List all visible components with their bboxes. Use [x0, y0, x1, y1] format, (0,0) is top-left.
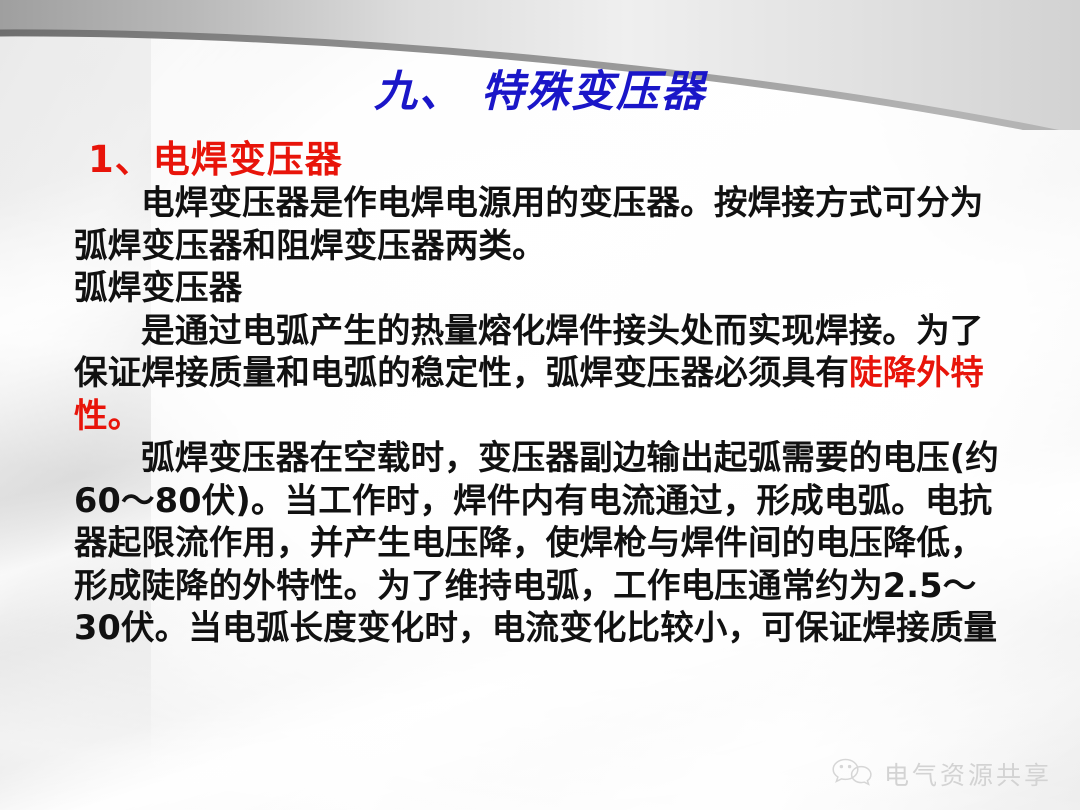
body-subheading-arc-welding: 弧焊变压器 [74, 267, 1014, 310]
page-title: 九、 特殊变压器 [0, 57, 1080, 119]
body-paragraph-principle-text: 是通过电弧产生的热量熔化焊件接头处而实现焊接。为了保证焊接质量和电弧的稳定性，弧… [74, 311, 984, 393]
watermark-label: 电气资源共享 [884, 756, 1052, 792]
wechat-icon [831, 756, 873, 792]
presentation-slide: 九、 特殊变压器 1、电焊变压器 电焊变压器是作电焊电源用的变压器。按焊接方式可… [0, 0, 1080, 810]
body-paragraph-operation: 弧焊变压器在空载时，变压器副边输出起弧需要的电压(约60～80伏)。当工作时，焊… [74, 437, 1014, 650]
slide-body-content: 电焊变压器是作电焊电源用的变压器。按焊接方式可分为弧焊变压器和阻焊变压器两类。 … [74, 182, 1014, 650]
section-heading: 1、电焊变压器 [88, 129, 343, 183]
body-paragraph-principle: 是通过电弧产生的热量熔化焊件接头处而实现焊接。为了保证焊接质量和电弧的稳定性，弧… [74, 310, 1014, 438]
watermark: 电气资源共享 [831, 756, 1052, 792]
body-paragraph-definition: 电焊变压器是作电焊电源用的变压器。按焊接方式可分为弧焊变压器和阻焊变压器两类。 [74, 182, 1014, 267]
